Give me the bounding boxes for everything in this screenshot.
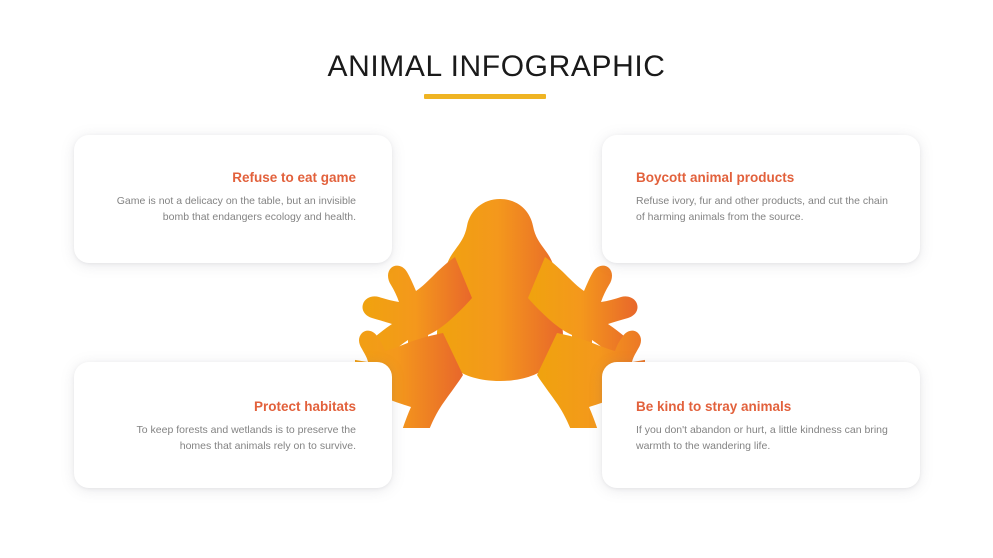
card-be-kind-to-stray-animals[interactable]: Be kind to stray animals If you don't ab… xyxy=(602,362,920,488)
card-heading: Refuse to eat game xyxy=(106,169,356,187)
title-underline-bar xyxy=(424,94,546,99)
card-boycott-animal-products[interactable]: Boycott animal products Refuse ivory, fu… xyxy=(602,135,920,263)
card-content: Boycott animal products Refuse ivory, fu… xyxy=(602,169,920,225)
infographic-slide: ANIMAL INFOGRAPHIC xyxy=(0,0,993,558)
card-heading: Boycott animal products xyxy=(636,169,888,187)
card-refuse-to-eat-game[interactable]: Refuse to eat game Game is not a delicac… xyxy=(74,135,392,263)
card-body-text: To keep forests and wetlands is to prese… xyxy=(106,423,356,454)
page-title-block: ANIMAL INFOGRAPHIC xyxy=(0,48,993,86)
card-content: Protect habitats To keep forests and wet… xyxy=(74,398,392,454)
card-body-text: Refuse ivory, fur and other products, an… xyxy=(636,194,888,225)
page-title: ANIMAL INFOGRAPHIC xyxy=(0,48,993,86)
card-content: Refuse to eat game Game is not a delicac… xyxy=(74,169,392,225)
card-body-text: If you don't abandon or hurt, a little k… xyxy=(636,423,888,454)
card-body-text: Game is not a delicacy on the table, but… xyxy=(106,194,356,225)
card-heading: Protect habitats xyxy=(106,398,356,416)
card-content: Be kind to stray animals If you don't ab… xyxy=(602,398,920,454)
card-protect-habitats[interactable]: Protect habitats To keep forests and wet… xyxy=(74,362,392,488)
card-heading: Be kind to stray animals xyxy=(636,398,888,416)
